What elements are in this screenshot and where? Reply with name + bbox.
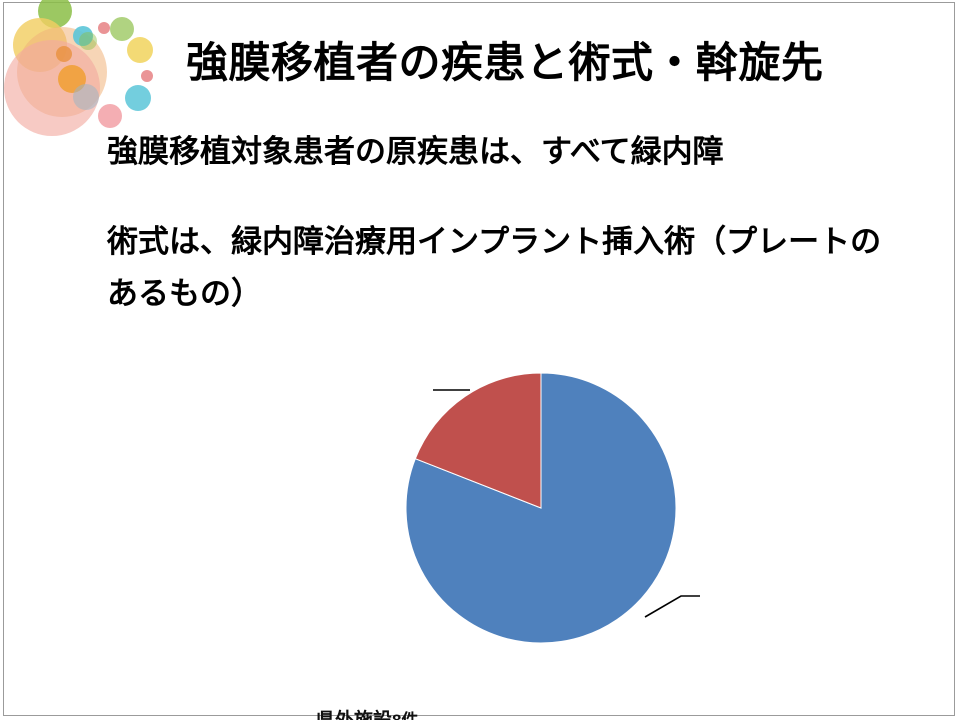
page-title: 強膜移植者の疾患と術式・斡旋先	[186, 28, 886, 90]
data-label-kengai-count: 8件	[392, 711, 418, 720]
data-label-kengai-name: 県外施設	[316, 710, 392, 720]
deco-circle	[110, 17, 134, 41]
pie-chart-svg	[0, 330, 960, 700]
body-text-line-1: 強膜移植対象患者の原疾患は、すべて緑内障	[107, 126, 907, 178]
data-label-kengai: 県外施設8件	[316, 705, 418, 720]
circle-cluster-graphic	[0, 0, 190, 135]
pie-slice-group	[406, 373, 676, 643]
deco-circle	[125, 85, 151, 111]
deco-circle	[98, 22, 110, 34]
deco-circle	[98, 104, 122, 128]
deco-circle	[141, 70, 153, 82]
leader-line-toyama	[645, 596, 700, 617]
body-text-line-2: 術式は、緑内障治療用インプラント挿入術（プレートのあるもの）	[107, 216, 897, 320]
deco-circle	[127, 37, 153, 63]
pie-chart: 富山大学附属病院県外施設 県外施設8件 富山大学附属病 院34件	[0, 330, 960, 700]
slide-canvas: 強膜移植者の疾患と術式・斡旋先 強膜移植対象患者の原疾患は、すべて緑内障 術式は…	[0, 0, 960, 720]
deco-circle	[79, 32, 97, 50]
deco-circle	[56, 46, 72, 62]
deco-circle	[73, 84, 99, 110]
